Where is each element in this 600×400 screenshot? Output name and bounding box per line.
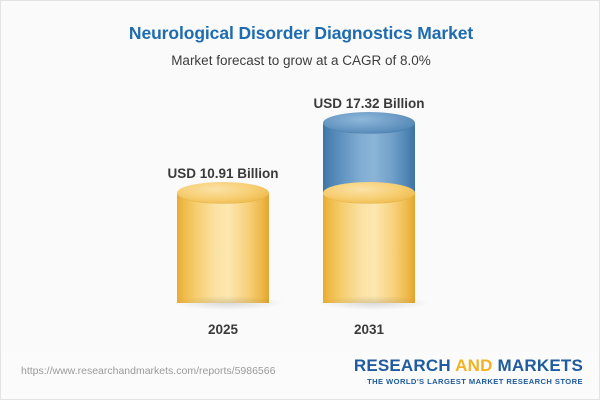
footer: https://www.researchandmarkets.com/repor…	[1, 351, 600, 399]
x-axis-label-2025: 2025	[177, 322, 269, 337]
cylinder-2031[interactable]	[323, 123, 415, 303]
plot-area: USD 10.91 Billion USD 17.32 Billion	[1, 1, 600, 351]
brand-logo[interactable]: RESEARCH AND MARKETS THE WORLD'S LARGEST…	[354, 357, 583, 386]
cylinder-top-cap	[177, 182, 269, 204]
cylinder-segment-divider-cap	[323, 182, 415, 204]
cylinder-body	[323, 193, 415, 303]
cylinder-bottom-cap	[323, 292, 415, 314]
cylinder-segment-base-2031	[323, 193, 415, 303]
logo-word-and: AND	[455, 356, 492, 375]
logo-word-research: RESEARCH	[354, 356, 451, 375]
logo-wordmark: RESEARCH AND MARKETS	[354, 357, 583, 375]
bar-value-label-2025: USD 10.91 Billion	[167, 166, 278, 181]
logo-word-markets: MARKETS	[498, 356, 583, 375]
cylinder-segment-base-2025	[177, 193, 269, 303]
chart-canvas: Neurological Disorder Diagnostics Market…	[0, 0, 600, 400]
bar-value-label-2031: USD 17.32 Billion	[313, 96, 424, 111]
bar-group-2025: USD 10.91 Billion	[177, 193, 269, 303]
logo-tagline: THE WORLD'S LARGEST MARKET RESEARCH STOR…	[354, 377, 583, 386]
cylinder-body	[177, 193, 269, 303]
bar-group-2031: USD 17.32 Billion	[323, 123, 415, 303]
x-axis-label-2031: 2031	[323, 322, 415, 337]
cylinder-bottom-cap	[177, 292, 269, 314]
cylinder-2025[interactable]	[177, 193, 269, 303]
cylinder-top-cap	[323, 112, 415, 134]
footer-url[interactable]: https://www.researchandmarkets.com/repor…	[21, 365, 275, 377]
